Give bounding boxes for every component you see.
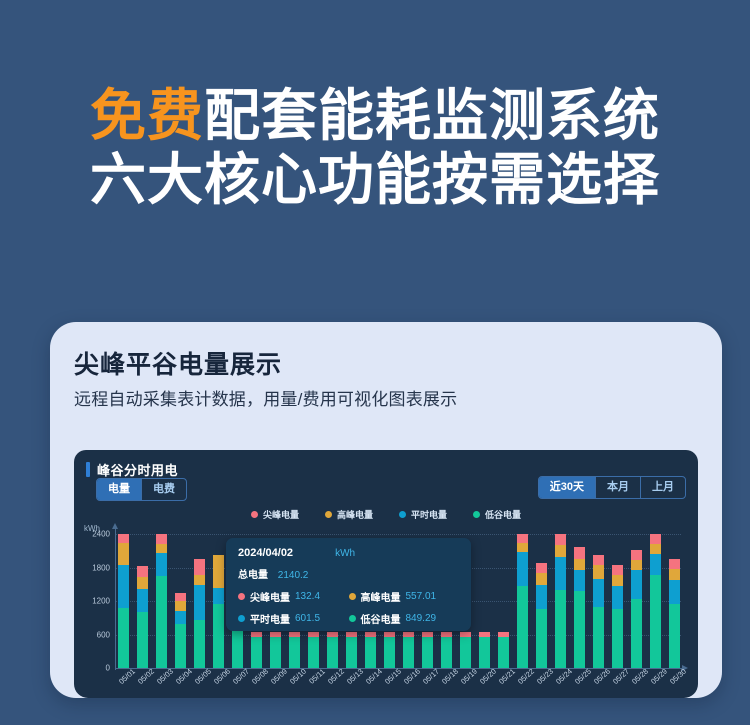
- bar-segment: [517, 543, 528, 552]
- bar-segment: [669, 559, 680, 570]
- bar-segment: [574, 547, 585, 559]
- x-axis-label: 05/03: [156, 672, 167, 698]
- bar-segment: [536, 585, 547, 609]
- bar-segment: [213, 555, 224, 588]
- bar-segment: [536, 609, 547, 668]
- bar-segment: [118, 608, 129, 668]
- tooltip-item-label: 平时电量: [250, 611, 290, 626]
- bar-column[interactable]: [536, 534, 547, 668]
- bar-segment: [517, 534, 528, 543]
- bar-segment: [593, 607, 604, 668]
- tooltip-header: 2024/04/02 kWh: [238, 547, 459, 559]
- bar-segment: [631, 570, 642, 599]
- bar-segment: [593, 555, 604, 564]
- bar-segment: [536, 573, 547, 585]
- tooltip-item-value: 849.29: [406, 613, 437, 624]
- bar-segment: [365, 637, 376, 668]
- bar-segment: [118, 565, 129, 609]
- bar-segment: [650, 554, 661, 575]
- tooltip-item-label: 高峰电量: [361, 589, 401, 604]
- bar-segment: [574, 570, 585, 591]
- bar-segment: [631, 560, 642, 570]
- bar-segment: [631, 550, 642, 560]
- bar-segment: [555, 557, 566, 589]
- legend-item-sharp-peak[interactable]: 尖峰电量: [251, 508, 299, 521]
- bar-segment: [137, 577, 148, 589]
- bar-segment: [631, 599, 642, 668]
- bar-segment: [175, 593, 186, 601]
- bar-segment: [650, 575, 661, 668]
- bar-segment: [156, 576, 167, 668]
- metric-tab-group[interactable]: 电量 电费: [96, 478, 187, 501]
- tooltip-item-value: 601.5: [295, 613, 320, 624]
- tooltip-item-label: 尖峰电量: [250, 589, 290, 604]
- bar-column[interactable]: [612, 534, 623, 668]
- x-axis-label: 05/26: [593, 672, 604, 698]
- bar-segment: [669, 569, 680, 580]
- bar-segment: [650, 544, 661, 554]
- bar-segment: [669, 580, 680, 603]
- chart-panel: 峰谷分时用电 电量 电费 近30天 本月 上月 尖峰电量 高峰电量: [74, 450, 698, 698]
- y-axis-tick: 1800: [92, 563, 110, 572]
- x-axis-label: 05/24: [555, 672, 566, 698]
- bar-segment: [194, 585, 205, 620]
- chart-panel-title-row: 峰谷分时用电: [74, 450, 698, 479]
- x-axis-label: 05/09: [270, 672, 281, 698]
- bar-column[interactable]: [517, 534, 528, 668]
- tooltip-dot-icon: [349, 615, 356, 622]
- tooltip-total-label: 总电量: [238, 570, 268, 581]
- bar-column[interactable]: [574, 534, 585, 668]
- tooltip-item-value: 132.4: [295, 591, 320, 602]
- x-axis-label: 05/16: [403, 672, 414, 698]
- bar-segment: [555, 545, 566, 557]
- bar-segment: [517, 552, 528, 586]
- bar-segment: [612, 609, 623, 668]
- y-axis-tick: 600: [97, 630, 110, 639]
- bar-segment: [194, 559, 205, 575]
- hero-line-1: 免费配套能耗监测系统: [0, 84, 750, 148]
- bar-segment: [479, 637, 490, 668]
- range-tab-group[interactable]: 近30天 本月 上月: [538, 476, 686, 499]
- bar-segment: [137, 566, 148, 577]
- bar-segment: [118, 534, 129, 543]
- bar-segment: [213, 588, 224, 604]
- chart-panel-title: 峰谷分时用电: [97, 460, 178, 479]
- hero-line-1-rest: 配套能耗监测系统: [204, 84, 660, 147]
- bar-segment: [156, 534, 167, 544]
- bar-column[interactable]: [137, 534, 148, 668]
- x-axis-labels: 05/0105/0205/0305/0405/0505/0605/0705/08…: [118, 672, 680, 698]
- x-axis-label: 05/15: [384, 672, 395, 698]
- card-title: 尖峰平谷电量展示: [74, 348, 698, 382]
- bar-segment: [612, 586, 623, 609]
- bar-column[interactable]: [118, 534, 129, 668]
- bar-segment: [555, 590, 566, 668]
- legend-dot-icon: [251, 511, 258, 518]
- bar-column[interactable]: [194, 534, 205, 668]
- bar-segment: [441, 637, 452, 668]
- x-axis-label: 05/02: [137, 672, 148, 698]
- x-axis-label: 05/21: [498, 672, 509, 698]
- bar-segment: [270, 637, 281, 668]
- bar-segment: [175, 611, 186, 624]
- tooltip-dot-icon: [238, 615, 245, 622]
- tooltip-date: 2024/04/02: [238, 547, 293, 559]
- bar-segment: [308, 637, 319, 668]
- legend-label: 平时电量: [411, 508, 447, 521]
- x-axis-label: 05/20: [479, 672, 490, 698]
- bar-segment: [156, 544, 167, 553]
- bar-segment: [612, 565, 623, 575]
- x-axis-label: 05/25: [574, 672, 585, 698]
- bar-column[interactable]: [213, 534, 224, 668]
- chart-panel-header: 峰谷分时用电 电量 电费 近30天 本月 上月: [74, 450, 698, 508]
- legend-label: 尖峰电量: [263, 508, 299, 521]
- page-root: 免费配套能耗监测系统 六大核心功能按需选择 尖峰平谷电量展示 远程自动采集表计数…: [0, 0, 750, 725]
- tooltip-item-sharp-peak: 尖峰电量 132.4: [238, 589, 349, 604]
- x-axis-label: 05/23: [536, 672, 547, 698]
- legend-dot-icon: [399, 511, 406, 518]
- bar-segment: [327, 637, 338, 668]
- bar-segment: [593, 565, 604, 579]
- bar-segment: [175, 601, 186, 611]
- hero-accent-text: 免费: [90, 84, 204, 147]
- y-axis-tick: 2400: [92, 530, 110, 539]
- bar-column[interactable]: [156, 534, 167, 668]
- x-axis-label: 05/17: [422, 672, 433, 698]
- tab-electricity-usage[interactable]: 电量: [97, 479, 142, 500]
- legend-dot-icon: [325, 511, 332, 518]
- bar-segment: [574, 559, 585, 570]
- x-axis-label: 05/11: [308, 672, 319, 698]
- tooltip-dot-icon: [238, 593, 245, 600]
- tab-last-30-days[interactable]: 近30天: [539, 477, 596, 498]
- bar-column[interactable]: [555, 534, 566, 668]
- card-subtitle: 远程自动采集表计数据，用量/费用可视化图表展示: [74, 388, 698, 412]
- bar-segment: [403, 637, 414, 668]
- x-axis-label: 05/13: [346, 672, 357, 698]
- bar-column[interactable]: [669, 534, 680, 668]
- bar-segment: [194, 620, 205, 668]
- bar-segment: [555, 534, 566, 545]
- x-axis-label: 05/18: [441, 672, 452, 698]
- bar-column[interactable]: [175, 534, 186, 668]
- hero-line-2: 六大核心功能按需选择: [0, 148, 750, 212]
- legend-item-valley[interactable]: 低谷电量: [473, 508, 521, 521]
- tab-last-month[interactable]: 上月: [641, 477, 685, 498]
- bar-segment: [156, 553, 167, 576]
- x-axis-label: 05/14: [365, 672, 376, 698]
- bar-column[interactable]: [593, 534, 604, 668]
- bar-segment: [175, 624, 186, 668]
- y-axis-line: [115, 528, 116, 670]
- bar-segment: [574, 591, 585, 668]
- x-axis-label: 05/30: [669, 672, 680, 698]
- x-axis-label: 05/01: [118, 672, 129, 698]
- bar-segment: [194, 575, 205, 586]
- bar-segment: [536, 563, 547, 573]
- bar-segment: [669, 604, 680, 668]
- bar-segment: [346, 637, 357, 668]
- chart-tooltip: 2024/04/02 kWh 总电量 2140.2 尖峰电量 132.4 高峰: [226, 538, 471, 631]
- bar-segment: [612, 575, 623, 586]
- bar-segment: [498, 637, 509, 668]
- tooltip-item-value: 557.01: [406, 591, 437, 602]
- title-accent-bar-icon: [86, 462, 90, 477]
- legend-label: 高峰电量: [337, 508, 373, 521]
- legend-item-peak[interactable]: 高峰电量: [325, 508, 373, 521]
- legend-label: 低谷电量: [485, 508, 521, 521]
- x-axis-label: 05/12: [327, 672, 338, 698]
- bar-segment: [213, 604, 224, 668]
- x-axis-label: 05/22: [517, 672, 528, 698]
- x-axis-label: 05/10: [289, 672, 300, 698]
- bar-column[interactable]: [498, 534, 509, 668]
- bar-segment: [137, 612, 148, 668]
- x-axis-label: 05/29: [650, 672, 661, 698]
- bar-segment: [593, 579, 604, 607]
- bar-segment: [137, 589, 148, 612]
- bar-segment: [422, 637, 433, 668]
- bar-column[interactable]: [479, 534, 490, 668]
- chart-plot-area: kWh 0600120018002400 05/0105/0205/0305/0…: [74, 524, 698, 698]
- x-axis-label: 05/05: [194, 672, 205, 698]
- tooltip-unit: kWh: [335, 548, 355, 559]
- bar-segment: [384, 637, 395, 668]
- bar-segment: [289, 637, 300, 668]
- tooltip-dot-icon: [349, 593, 356, 600]
- tooltip-item-normal: 平时电量 601.5: [238, 611, 349, 626]
- y-axis-tick: 1200: [92, 597, 110, 606]
- y-axis-tick: 0: [106, 664, 110, 673]
- bar-segment: [460, 637, 471, 668]
- x-axis-label: 05/27: [612, 672, 623, 698]
- legend-dot-icon: [473, 511, 480, 518]
- bar-segment: [251, 637, 262, 668]
- x-axis-label: 05/07: [232, 672, 243, 698]
- chart-legend: 尖峰电量 高峰电量 平时电量 低谷电量: [74, 508, 698, 521]
- tab-this-month[interactable]: 本月: [596, 477, 641, 498]
- hero-headline: 免费配套能耗监测系统 六大核心功能按需选择: [0, 84, 750, 212]
- bar-column[interactable]: [631, 534, 642, 668]
- tooltip-item-valley: 低谷电量 849.29: [349, 611, 460, 626]
- bar-segment: [517, 586, 528, 668]
- tooltip-item-label: 低谷电量: [361, 611, 401, 626]
- x-axis-label: 05/28: [631, 672, 642, 698]
- x-axis-label: 05/08: [251, 672, 262, 698]
- tooltip-items: 尖峰电量 132.4 高峰电量 557.01 平时电量 601.5: [238, 589, 459, 626]
- legend-item-normal[interactable]: 平时电量: [399, 508, 447, 521]
- tooltip-item-peak: 高峰电量 557.01: [349, 589, 460, 604]
- tab-electricity-fee[interactable]: 电费: [142, 479, 186, 500]
- x-axis-label: 05/04: [175, 672, 186, 698]
- x-axis-label: 05/19: [460, 672, 471, 698]
- bar-column[interactable]: [650, 534, 661, 668]
- tooltip-total-row: 总电量 2140.2: [238, 566, 459, 581]
- bar-segment: [650, 534, 661, 544]
- x-axis-label: 05/06: [213, 672, 224, 698]
- y-axis: 0600120018002400: [74, 534, 114, 668]
- tooltip-total-value: 2140.2: [278, 570, 309, 581]
- bar-segment: [118, 543, 129, 565]
